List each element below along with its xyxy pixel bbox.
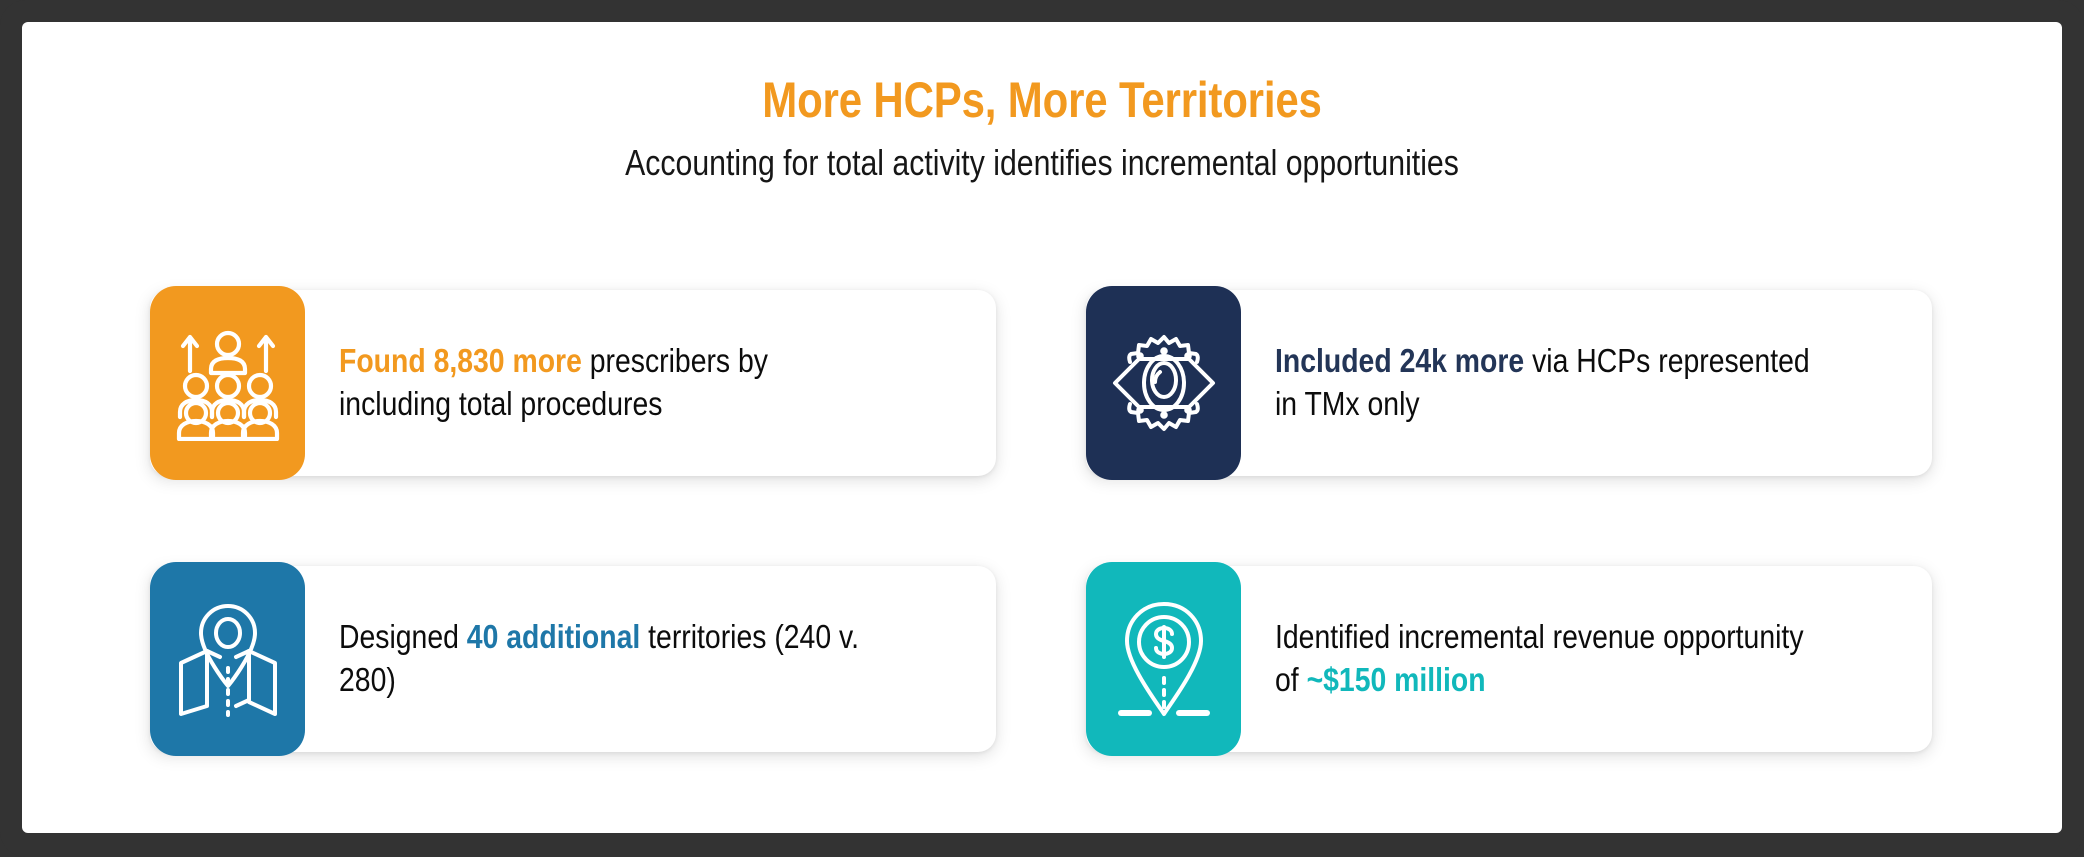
- dollar-pin-icon: [1111, 598, 1217, 720]
- slide-canvas: More HCPs, More Territories Accounting f…: [22, 22, 2062, 833]
- highlight-card-prescribers[interactable]: Found 8,830 more prescribers by includin…: [150, 290, 996, 476]
- icon-tile-hcps-tmx: [1086, 286, 1241, 480]
- card-text-revenue: Identified incremental revenue opportuni…: [1275, 616, 1818, 702]
- page-subtitle: Accounting for total activity identifies…: [185, 143, 1899, 183]
- people-growth-icon: [174, 325, 282, 441]
- icon-tile-revenue: [1086, 562, 1241, 756]
- card-highlight-revenue: ~$150 million: [1307, 661, 1486, 698]
- card-body-revenue: Identified incremental revenue opportuni…: [1241, 566, 1932, 752]
- card-text-hcps-tmx: Included 24k more via HCPs represented i…: [1275, 340, 1818, 426]
- eye-gear-icon: [1106, 324, 1222, 442]
- highlight-card-grid: Found 8,830 more prescribers by includin…: [150, 290, 1974, 752]
- card-highlight-hcps-tmx: Included 24k more: [1275, 342, 1524, 379]
- card-text-territories: Designed 40 additional territories (240 …: [339, 616, 882, 702]
- card-body-prescribers: Found 8,830 more prescribers by includin…: [305, 290, 996, 476]
- card-highlight-territories: 40 additional: [467, 618, 640, 655]
- card-lead-territories: Designed: [339, 618, 467, 655]
- card-body-territories: Designed 40 additional territories (240 …: [305, 566, 996, 752]
- card-text-prescribers: Found 8,830 more prescribers by includin…: [339, 340, 882, 426]
- slide-frame: More HCPs, More Territories Accounting f…: [0, 0, 2084, 857]
- card-highlight-prescribers: Found 8,830 more: [339, 342, 582, 379]
- highlight-card-territories[interactable]: Designed 40 additional territories (240 …: [150, 566, 996, 752]
- map-pin-icon: [173, 600, 283, 718]
- slide-header: More HCPs, More Territories Accounting f…: [22, 22, 2062, 183]
- highlight-card-hcps-tmx[interactable]: Included 24k more via HCPs represented i…: [1086, 290, 1932, 476]
- page-title: More HCPs, More Territories: [185, 74, 1899, 127]
- icon-tile-prescribers: [150, 286, 305, 480]
- icon-tile-territories: [150, 562, 305, 756]
- highlight-card-revenue[interactable]: Identified incremental revenue opportuni…: [1086, 566, 1932, 752]
- card-body-hcps-tmx: Included 24k more via HCPs represented i…: [1241, 290, 1932, 476]
